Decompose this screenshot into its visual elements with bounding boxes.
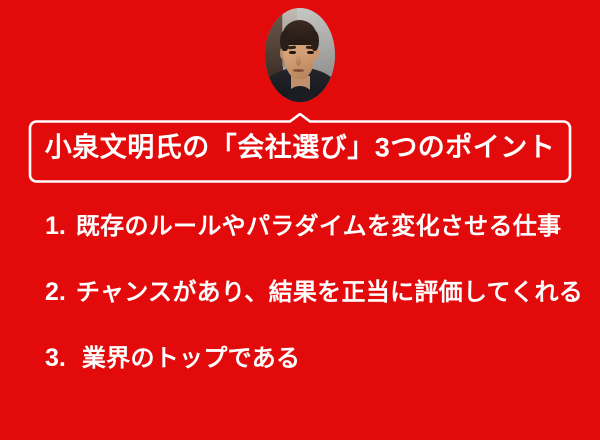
list-item: 3. 業界のトップである [45, 346, 580, 412]
avatar [265, 8, 335, 102]
points-list: 1. 既存のルールやパラダイムを変化させる仕事 2. チャンスがあり、結果を正当… [45, 214, 580, 412]
page-title: 小泉文明氏の「会社選び」3つのポイント [28, 135, 572, 162]
infographic-card: 小泉文明氏の「会社選び」3つのポイント 1. 既存のルールやパラダイムを変化させ… [0, 0, 600, 440]
list-item-number: 2. [45, 280, 66, 305]
list-item-number: 1. [45, 214, 66, 239]
photo-eyebrow-right [306, 45, 315, 49]
list-item-label: 業界のトップである [82, 347, 300, 371]
list-item: 1. 既存のルールやパラダイムを変化させる仕事 [45, 214, 580, 280]
list-item-label: 既存のルールやパラダイムを変化させる仕事 [76, 215, 562, 239]
list-item-label: チャンスがあり、結果を正当に評価してくれる [76, 281, 583, 305]
list-item-number: 3. [45, 346, 66, 371]
photo-eye-left [289, 51, 296, 54]
title-speech-bubble: 小泉文明氏の「会社選び」3つのポイント [28, 113, 572, 183]
portrait-photo [265, 8, 335, 102]
list-item: 2. チャンスがあり、結果を正当に評価してくれる [45, 280, 580, 346]
photo-mouth [293, 69, 304, 72]
